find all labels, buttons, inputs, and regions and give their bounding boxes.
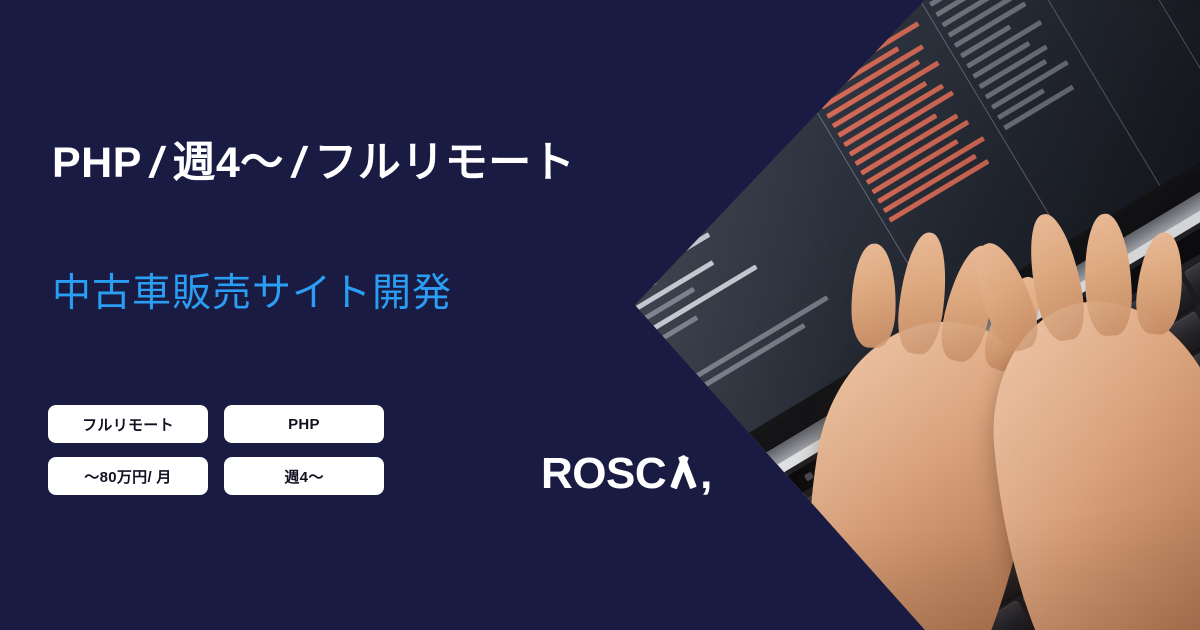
logo-lambda-icon <box>668 455 698 488</box>
logo-text: ROSC <box>541 452 666 496</box>
tag-php[interactable]: PHP <box>224 405 384 443</box>
banner-content: PHP/週4〜/フルリモート 中古車販売サイト開発 フルリモート PHP 〜80… <box>0 0 700 630</box>
title-separator-1: / <box>146 140 169 187</box>
title-part-worksite: フルリモート <box>314 139 575 187</box>
tag-salary[interactable]: 〜80万円/ 月 <box>48 457 208 495</box>
page-title: PHP/週4〜/フルリモート <box>52 140 575 187</box>
title-part-language: PHP <box>52 139 142 187</box>
tag-list: フルリモート PHP 〜80万円/ 月 週4〜 <box>48 405 400 495</box>
title-separator-2: / <box>288 140 311 187</box>
tag-days[interactable]: 週4〜 <box>224 457 384 495</box>
logo-comma: , <box>700 452 712 496</box>
title-part-schedule: 週4〜 <box>172 139 283 187</box>
job-posting-banner: PHP/週4〜/フルリモート 中古車販売サイト開発 フルリモート PHP 〜80… <box>0 0 1200 630</box>
tag-remote[interactable]: フルリモート <box>48 405 208 443</box>
project-subtitle: 中古車販売サイト開発 <box>52 262 452 318</box>
rosca-logo[interactable]: ROSC , <box>541 452 712 496</box>
